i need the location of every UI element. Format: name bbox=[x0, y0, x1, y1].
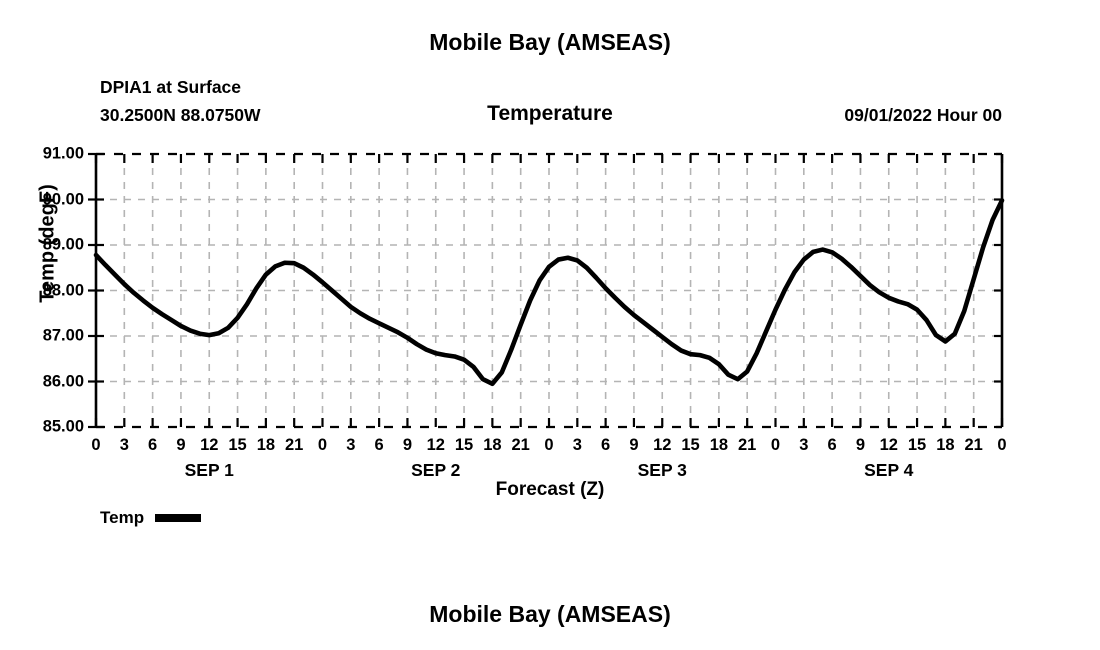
x-tick-label: 18 bbox=[483, 436, 501, 455]
x-tick-label: 0 bbox=[91, 436, 100, 455]
page-title: Mobile Bay (AMSEAS) bbox=[0, 29, 1100, 56]
x-tick-label: 3 bbox=[120, 436, 129, 455]
x-tick-label: 15 bbox=[455, 436, 473, 455]
x-tick-label: 3 bbox=[573, 436, 582, 455]
x-tick-label: 15 bbox=[908, 436, 926, 455]
x-tick-label: 18 bbox=[936, 436, 954, 455]
x-tick-label: 21 bbox=[738, 436, 756, 455]
x-tick-label: 12 bbox=[653, 436, 671, 455]
x-tick-label: 15 bbox=[681, 436, 699, 455]
x-tick-label: 6 bbox=[828, 436, 837, 455]
x-tick-label: 3 bbox=[346, 436, 355, 455]
x-tick-label: 9 bbox=[629, 436, 638, 455]
x-tick-label: 0 bbox=[318, 436, 327, 455]
day-label: SEP 2 bbox=[411, 460, 460, 481]
day-label: SEP 3 bbox=[638, 460, 687, 481]
x-tick-label: 6 bbox=[601, 436, 610, 455]
x-tick-label: 0 bbox=[771, 436, 780, 455]
x-tick-label: 12 bbox=[427, 436, 445, 455]
x-tick-label: 9 bbox=[856, 436, 865, 455]
chart-legend: Temp bbox=[100, 508, 201, 528]
y-tick-label: 87.00 bbox=[43, 327, 84, 346]
x-tick-label: 9 bbox=[176, 436, 185, 455]
x-tick-label: 9 bbox=[403, 436, 412, 455]
x-tick-label: 21 bbox=[285, 436, 303, 455]
x-tick-label: 21 bbox=[512, 436, 530, 455]
x-tick-label: 12 bbox=[880, 436, 898, 455]
legend-label-temp: Temp bbox=[100, 508, 144, 528]
x-axis-label: Forecast (Z) bbox=[0, 479, 1100, 501]
y-tick-label: 85.00 bbox=[43, 418, 84, 437]
x-tick-label: 6 bbox=[148, 436, 157, 455]
day-label: SEP 4 bbox=[864, 460, 913, 481]
x-tick-label: 6 bbox=[375, 436, 384, 455]
station-label: DPIA1 at Surface bbox=[100, 77, 241, 98]
x-tick-label: 3 bbox=[799, 436, 808, 455]
x-tick-label: 12 bbox=[200, 436, 218, 455]
y-tick-label: 90.00 bbox=[43, 190, 84, 209]
x-tick-label: 0 bbox=[997, 436, 1006, 455]
x-tick-label: 18 bbox=[257, 436, 275, 455]
footer-title: Mobile Bay (AMSEAS) bbox=[0, 601, 1100, 628]
legend-swatch-temp bbox=[155, 514, 201, 522]
model-run-timestamp: 09/01/2022 Hour 00 bbox=[844, 105, 1002, 126]
y-tick-label: 89.00 bbox=[43, 236, 84, 255]
y-tick-label: 86.00 bbox=[43, 372, 84, 391]
y-tick-label: 91.00 bbox=[43, 145, 84, 164]
x-tick-label: 0 bbox=[544, 436, 553, 455]
x-tick-label: 18 bbox=[710, 436, 728, 455]
x-tick-label: 21 bbox=[965, 436, 983, 455]
x-tick-label: 15 bbox=[228, 436, 246, 455]
y-tick-label: 88.00 bbox=[43, 281, 84, 300]
day-label: SEP 1 bbox=[185, 460, 234, 481]
forecast-chart-figure: Mobile Bay (AMSEAS) DPIA1 at Surface 30.… bbox=[0, 0, 1100, 650]
grid-lines bbox=[96, 154, 1002, 427]
